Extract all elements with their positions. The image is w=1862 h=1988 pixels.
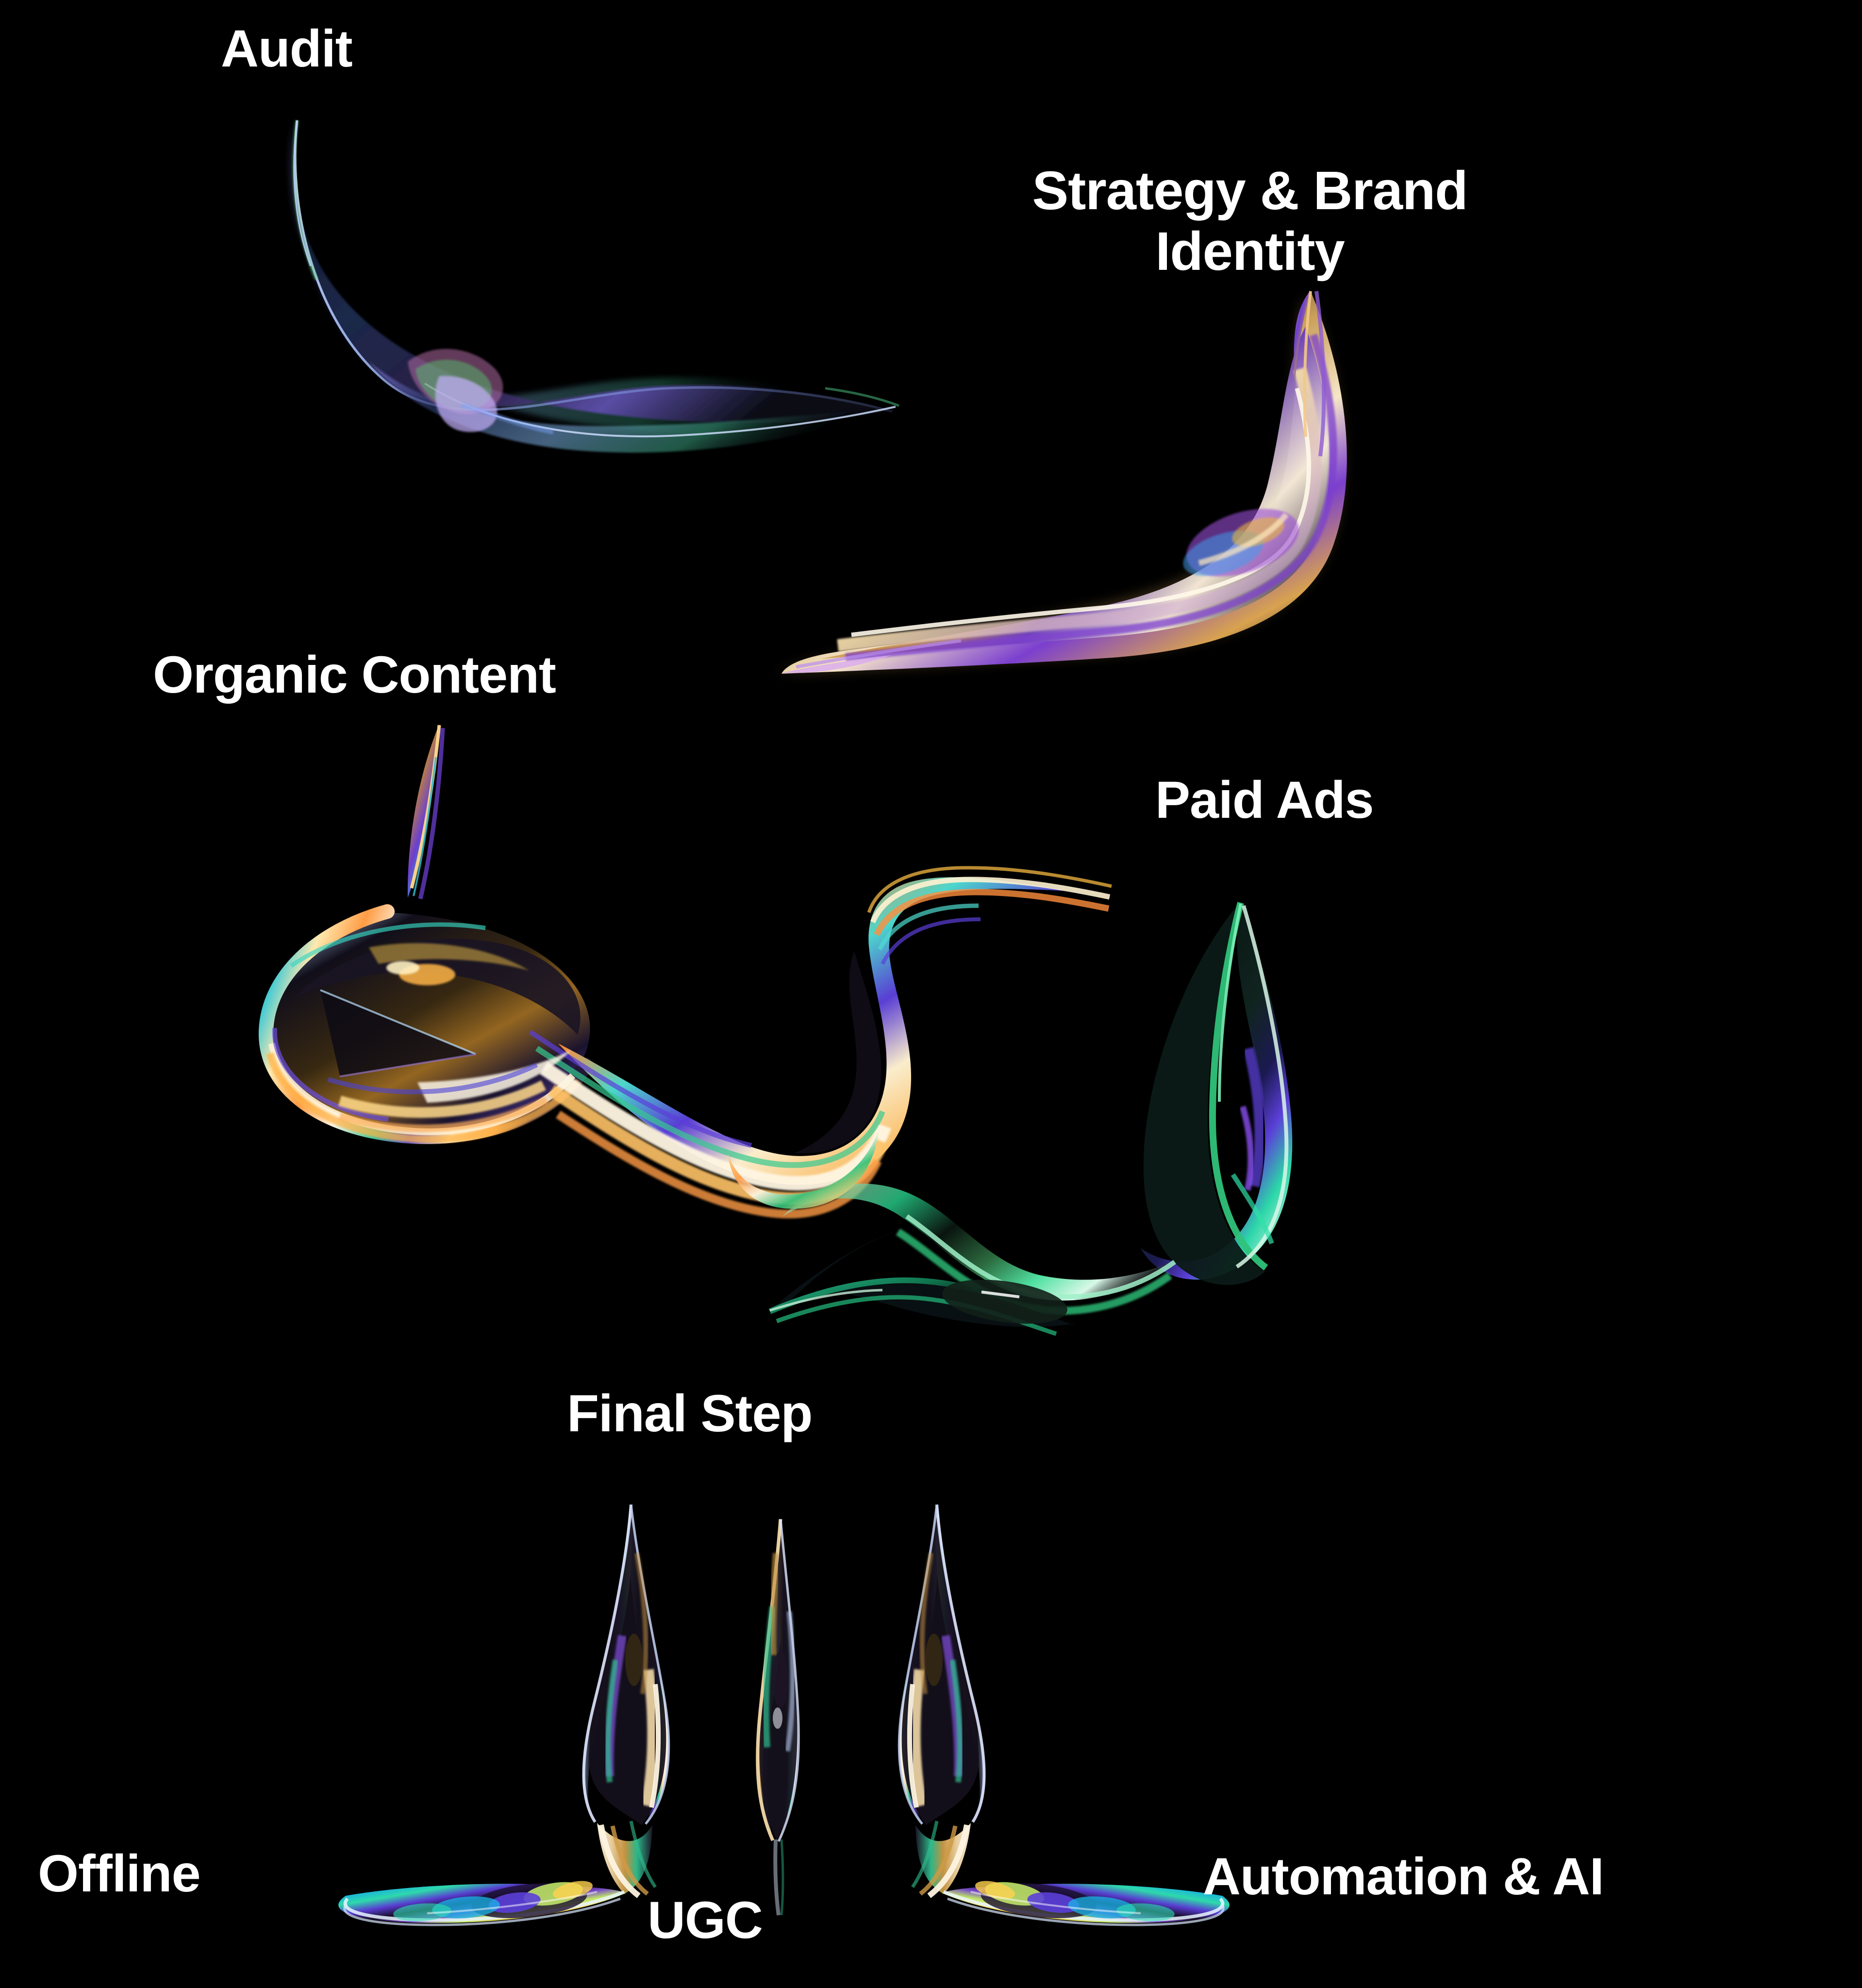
step-label-ugc: UGC <box>648 1891 763 1950</box>
iridescent-artwork-layer <box>0 0 1862 1988</box>
step-label-automation-ai: Automation & AI <box>1203 1847 1604 1906</box>
step-label-organic-content: Organic Content <box>153 646 556 704</box>
step-label-paid-ads: Paid Ads <box>1155 771 1373 829</box>
organic-content-artwork <box>266 724 1112 1214</box>
paid-ads-artwork <box>728 902 1292 1334</box>
final-step-artwork <box>338 1505 1230 1925</box>
step-label-final-step: Final Step <box>567 1384 812 1443</box>
strategy-artwork <box>777 290 1347 674</box>
step-label-audit: Audit <box>221 19 352 78</box>
audit-artwork <box>290 119 899 453</box>
step-label-offline: Offline <box>38 1844 200 1903</box>
process-steps-canvas: Audit Strategy & Brand Identity Organic … <box>0 0 1862 1988</box>
step-label-strategy-brand-identity: Strategy & Brand Identity <box>968 160 1531 282</box>
